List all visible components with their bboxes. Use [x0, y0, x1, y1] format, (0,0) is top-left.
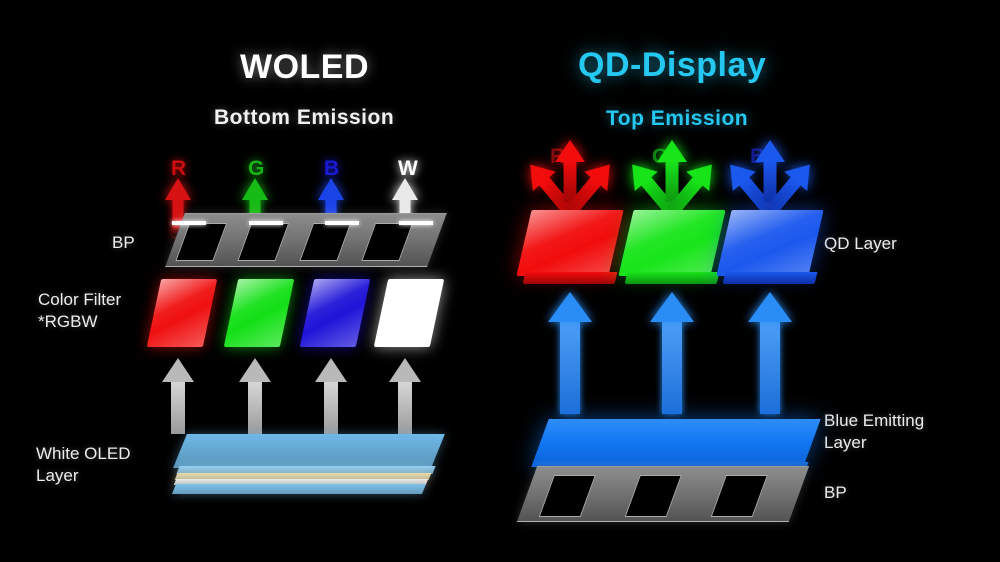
qd-panel-edge	[523, 272, 618, 284]
qd-bp-slot	[711, 475, 768, 517]
red-qd-panel	[524, 210, 616, 276]
arrow-shaft	[324, 381, 338, 434]
qd-blue-arrow-1	[650, 292, 694, 414]
tile-gloss	[300, 279, 370, 347]
qd-layer-label: QD Layer	[824, 233, 897, 255]
arrow-shaft	[560, 321, 580, 414]
woled-glyph-b: B	[324, 158, 339, 179]
red-filter	[147, 279, 217, 347]
woled-in-arrow-2	[315, 358, 347, 434]
diagram-canvas: WOLED Bottom Emission QD-Display Top Emi…	[0, 0, 1000, 562]
woled-glyph-w: W	[398, 158, 418, 179]
qd-blue-arrow-2	[748, 292, 792, 414]
arrow-head	[748, 292, 792, 322]
qd-panel-edge	[723, 272, 818, 284]
qd-panel-face	[716, 210, 823, 276]
arrow-shaft	[248, 381, 262, 434]
arrow-head	[392, 178, 418, 200]
woled-glyph-g: G	[248, 158, 264, 179]
woled-glyph-r: R	[171, 158, 186, 179]
qd-bp-slot	[625, 475, 682, 517]
qd-bp-slot	[539, 475, 596, 517]
tile-gloss	[147, 279, 217, 347]
qd-display-title: QD-Display	[578, 46, 766, 85]
blue-qd-panel	[724, 210, 816, 276]
green-filter	[224, 279, 294, 347]
qd-bp-label: BP	[824, 482, 847, 504]
arrow-head	[555, 140, 585, 162]
bp-slot	[175, 223, 227, 261]
woled-in-arrow-3	[389, 358, 421, 434]
arrow-shaft	[171, 381, 185, 434]
arrow-shaft	[760, 321, 780, 414]
oled-sublayer-4	[172, 484, 426, 494]
arrow-head	[315, 358, 347, 382]
green-qd-panel	[626, 210, 718, 276]
arrow-head	[162, 358, 194, 382]
arrow-head	[755, 140, 785, 162]
color-filter-label: Color Filter *RGBW	[38, 289, 121, 333]
bp-slot-highlight	[325, 221, 359, 225]
blue-filter	[300, 279, 370, 347]
bp-slot-highlight	[399, 221, 433, 225]
arrow-shaft	[662, 321, 682, 414]
woled-in-arrow-1	[239, 358, 271, 434]
qd-blue-arrow-0	[548, 292, 592, 414]
panel-gloss	[716, 210, 823, 276]
arrow-head	[650, 292, 694, 322]
bp-slot	[237, 223, 289, 261]
qd-panel-edge	[625, 272, 720, 284]
arrow-head	[657, 140, 687, 162]
woled-subtitle: Bottom Emission	[214, 106, 394, 130]
arrow-shaft	[398, 381, 412, 434]
woled-bp-label: BP	[112, 232, 135, 254]
blue-layer-body	[531, 419, 820, 467]
woled-in-arrow-0	[162, 358, 194, 434]
bp-slot-highlight	[172, 221, 206, 225]
bp-slot	[299, 223, 351, 261]
white-filter	[374, 279, 444, 347]
qd-display-subtitle: Top Emission	[606, 107, 748, 131]
oled-sublayer-0	[173, 434, 445, 468]
arrow-head	[548, 292, 592, 322]
tile-gloss	[224, 279, 294, 347]
arrow-head	[239, 358, 271, 382]
qd-panel-face	[618, 210, 725, 276]
panel-gloss	[516, 210, 623, 276]
arrow-head	[242, 178, 268, 200]
tile-gloss	[374, 279, 444, 347]
qd-bp-plate-body	[517, 466, 809, 522]
arrow-head	[389, 358, 421, 382]
arrow-head	[318, 178, 344, 200]
qd-panel-face	[516, 210, 623, 276]
white-oled-layer-label: White OLED Layer	[36, 443, 130, 487]
bp-slot	[361, 223, 413, 261]
panel-gloss	[618, 210, 725, 276]
bp-slot-highlight	[249, 221, 283, 225]
arrow-head	[165, 178, 191, 200]
blue-emitting-layer-label: Blue Emitting Layer	[824, 410, 924, 454]
woled-title: WOLED	[240, 48, 369, 87]
